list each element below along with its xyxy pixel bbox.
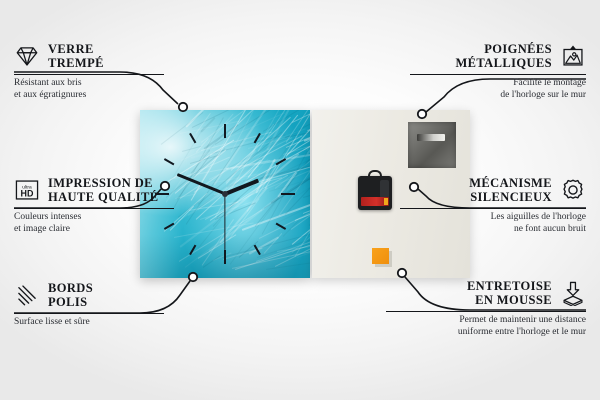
feature-head: MÉCANISME SILENCIEUX (400, 176, 586, 204)
feature-head: POIGNÉES MÉTALLIQUES (410, 42, 586, 70)
feature-title: VERRE TREMPÉ (48, 42, 104, 70)
mechanism-housing (380, 180, 389, 198)
feature-entretoise-en-mousse: ENTRETOISE EN MOUSSE Permet de maintenir… (386, 279, 586, 338)
foam-spacer (372, 248, 389, 264)
hanger-plate (408, 122, 456, 168)
picture-hanger-icon (560, 43, 586, 69)
feature-desc-1: Permet de maintenir une distance (386, 315, 586, 327)
feature-poignees-metalliques: POIGNÉES MÉTALLIQUES Facilite le montage… (410, 42, 586, 101)
feature-title: ENTRETOISE EN MOUSSE (467, 279, 552, 307)
feature-title: MÉCANISME SILENCIEUX (469, 176, 552, 204)
svg-text:HD: HD (21, 189, 34, 199)
feature-desc-1: Surface lisse et sûre (14, 317, 164, 329)
feature-head: ultra HD IMPRESSION DE HAUTE QUALITÉ (14, 176, 174, 204)
title-rule (14, 208, 174, 209)
feature-head: BORDS POLIS (14, 281, 164, 309)
title-rule (400, 208, 586, 209)
ultra-hd-icon: ultra HD (14, 177, 40, 203)
feature-title: IMPRESSION DE HAUTE QUALITÉ (48, 176, 158, 204)
title-rule (386, 311, 586, 312)
feature-head: ENTRETOISE EN MOUSSE (386, 279, 586, 307)
feature-desc-2: de l'horloge sur le mur (410, 90, 586, 102)
feature-bords-polis: BORDS POLIS Surface lisse et sûre (14, 281, 164, 329)
clock-tick (225, 193, 295, 195)
feature-desc-2: uniforme entre l'horloge et le mur (386, 327, 586, 339)
feature-desc-2: et image claire (14, 224, 174, 236)
battery-terminal (384, 198, 388, 205)
title-rule (14, 313, 164, 314)
feature-desc-1: Résistant aux bris (14, 78, 164, 90)
feature-desc-1: Couleurs intenses (14, 212, 174, 224)
title-rule (410, 74, 586, 75)
title-rule (14, 74, 164, 75)
mechanism-loop (368, 170, 382, 178)
feature-desc-2: et aux égratignures (14, 90, 164, 102)
feature-desc-1: Facilite le montage (410, 78, 586, 90)
feature-desc-2: ne font aucun bruit (400, 224, 586, 236)
clock-hub (222, 191, 228, 197)
feature-desc-1: Les aiguilles de l'horloge (400, 212, 586, 224)
battery (361, 197, 389, 206)
feature-title: BORDS POLIS (48, 281, 93, 309)
feature-head: VERRE TREMPÉ (14, 42, 164, 70)
foam-spacer-icon (560, 280, 586, 306)
hanger-slot (417, 134, 445, 141)
gear-icon (560, 177, 586, 203)
feature-mecanisme-silencieux: MÉCANISME SILENCIEUX Les aiguilles de l'… (400, 176, 586, 235)
diamond-icon (14, 43, 40, 69)
feature-title: POIGNÉES MÉTALLIQUES (455, 42, 552, 70)
feature-verre-trempe: VERRE TREMPÉ Résistant aux bris et aux é… (14, 42, 164, 101)
infographic-canvas: VERRE TREMPÉ Résistant aux bris et aux é… (0, 0, 600, 400)
clock-tick (224, 124, 226, 194)
feature-impression-haute-qualite: ultra HD IMPRESSION DE HAUTE QUALITÉ Cou… (14, 176, 174, 235)
polished-edges-icon (14, 282, 40, 308)
clock-mechanism (358, 176, 392, 210)
